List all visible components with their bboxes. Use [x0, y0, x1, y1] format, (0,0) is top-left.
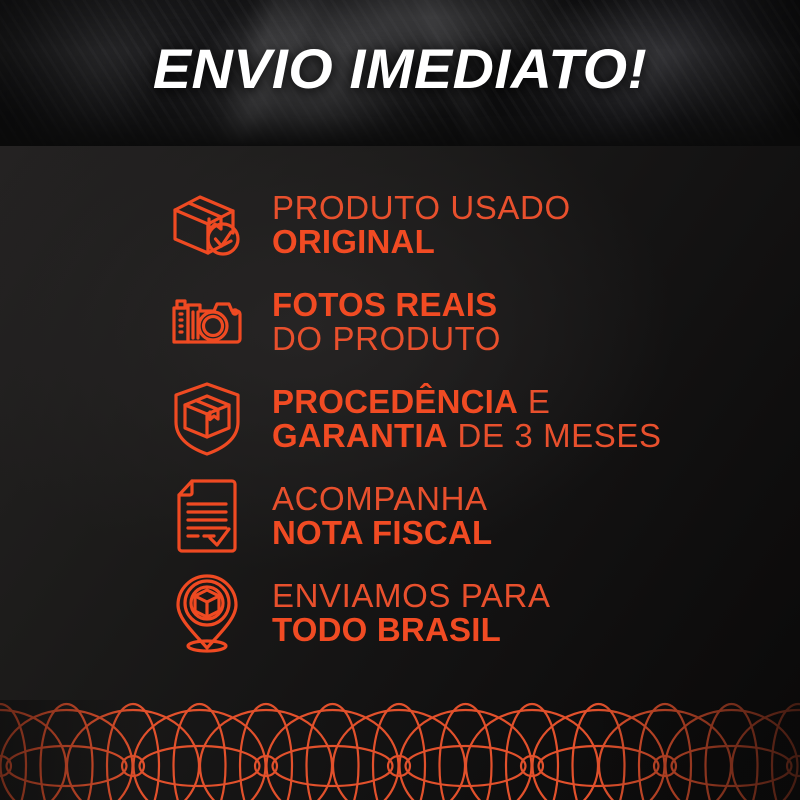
feature-item-nota-fiscal: ACOMPANHA NOTA FISCAL — [0, 467, 800, 564]
feature-line-1-text: ACOMPANHA — [272, 480, 488, 517]
feature-text: PROCEDÊNCIA E GARANTIA DE 3 MESES — [272, 385, 800, 452]
promo-banner: ENVIO IMEDIATO! PRODUTO USADO — [0, 0, 800, 800]
feature-line-1-bold: PROCEDÊNCIA — [272, 383, 518, 420]
feature-line-2: DO PRODUTO — [272, 322, 800, 356]
feature-text: ACOMPANHA NOTA FISCAL — [272, 482, 800, 549]
feature-item-produto-original: PRODUTO USADO ORIGINAL — [0, 176, 800, 273]
feature-line-1-thin: E — [518, 383, 550, 420]
feature-line-1-text: ENVIAMOS PARA — [272, 577, 551, 614]
feature-text: FOTOS REAIS DO PRODUTO — [272, 288, 800, 355]
feature-list: PRODUTO USADO ORIGINAL — [0, 176, 800, 661]
feature-line-2-text: DO PRODUTO — [272, 320, 501, 357]
feature-item-todo-brasil: ENVIAMOS PARA TODO BRASIL — [0, 564, 800, 661]
invoice-document-check-icon — [166, 475, 248, 557]
camera-icon — [166, 281, 248, 363]
feature-line-2: NOTA FISCAL — [272, 516, 800, 550]
banner-header: ENVIO IMEDIATO! — [0, 0, 800, 146]
feature-line-2-bold: GARANTIA — [272, 417, 448, 454]
feature-line-1-text: FOTOS REAIS — [272, 286, 497, 323]
feature-text: PRODUTO USADO ORIGINAL — [272, 191, 800, 258]
feature-line-1-text: PRODUTO USADO — [272, 189, 571, 226]
feature-line-1: ACOMPANHA — [272, 482, 800, 516]
feature-line-1: PRODUTO USADO — [272, 191, 800, 225]
feature-item-fotos-reais: FOTOS REAIS DO PRODUTO — [0, 273, 800, 370]
feature-line-2-text: NOTA FISCAL — [272, 514, 492, 551]
feature-text: ENVIAMOS PARA TODO BRASIL — [272, 579, 800, 646]
feature-line-2: ORIGINAL — [272, 225, 800, 259]
feature-line-2-thin: DE 3 MESES — [448, 417, 662, 454]
feature-line-1: PROCEDÊNCIA E — [272, 385, 800, 419]
feature-line-1: ENVIAMOS PARA — [272, 579, 800, 613]
feature-line-2: TODO BRASIL — [272, 613, 800, 647]
page-title: ENVIO IMEDIATO! — [0, 41, 800, 97]
shield-box-icon — [166, 378, 248, 460]
package-box-check-icon — [166, 184, 248, 266]
feature-line-2-text: ORIGINAL — [272, 223, 435, 260]
feature-line-1: FOTOS REAIS — [272, 288, 800, 322]
feature-item-procedencia-garantia: PROCEDÊNCIA E GARANTIA DE 3 MESES — [0, 370, 800, 467]
feature-line-2-text: TODO BRASIL — [272, 611, 501, 648]
feature-line-2: GARANTIA DE 3 MESES — [272, 419, 800, 453]
map-pin-box-icon — [166, 572, 248, 654]
footer-decorative-pattern — [0, 700, 800, 800]
